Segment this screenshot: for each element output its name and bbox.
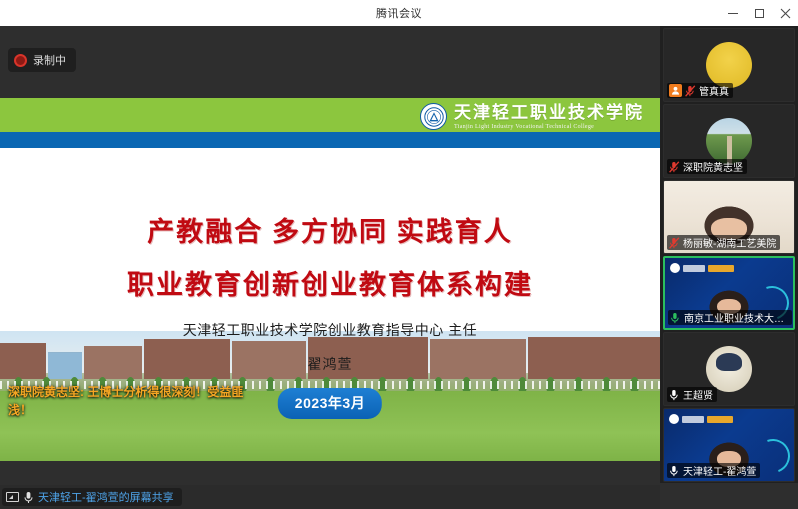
avatar bbox=[706, 118, 752, 164]
participant-name: 杨丽敏-湖南工艺美院 bbox=[683, 235, 776, 250]
bottom-status-bar: 天津轻工-翟鸿萱的屏幕共享 bbox=[0, 485, 660, 509]
participant-name: 天津轻工-翟鸿萱 bbox=[683, 463, 756, 478]
slide-white-curve bbox=[0, 148, 660, 218]
close-button[interactable] bbox=[772, 0, 798, 26]
maximize-button[interactable] bbox=[746, 0, 772, 26]
title-bar: 腾讯会议 bbox=[0, 0, 798, 26]
slide-organization: 天津轻工职业技术学院创业教育指导中心 主任 bbox=[0, 320, 660, 340]
window-title: 腾讯会议 bbox=[376, 5, 422, 21]
avatar bbox=[706, 42, 752, 88]
slide-title-line-2: 职业教育创新创业教育体系构建 bbox=[0, 263, 660, 302]
school-name-en: Tianjin Light Industry Vocational Techni… bbox=[454, 124, 644, 130]
tencent-meeting-window: 腾讯会议 录制中 bbox=[0, 0, 798, 509]
nameplate: 深职院黄志坚 bbox=[667, 159, 747, 174]
host-badge-icon bbox=[669, 84, 682, 97]
participant-tile[interactable]: 天津轻工-翟鸿萱 bbox=[663, 408, 795, 482]
avatar bbox=[706, 346, 752, 392]
mic-muted-icon bbox=[669, 237, 680, 249]
school-name-cn: 天津轻工职业技术学院 bbox=[454, 104, 644, 121]
window-controls bbox=[720, 0, 798, 26]
maximize-icon bbox=[755, 9, 764, 18]
participant-tile[interactable]: 管真真 bbox=[663, 28, 795, 102]
mic-muted-icon bbox=[685, 85, 696, 97]
participant-name: 王超贤 bbox=[683, 387, 713, 402]
mic-on-icon bbox=[669, 389, 680, 401]
screen-share-status[interactable]: 天津轻工-翟鸿萱的屏幕共享 bbox=[2, 488, 182, 506]
participant-rail[interactable]: 管真真 深职院黄志坚 bbox=[660, 26, 798, 483]
close-icon bbox=[780, 8, 791, 19]
screen-share-icon bbox=[6, 492, 19, 502]
mic-active-icon bbox=[670, 312, 681, 324]
school-emblem-icon bbox=[420, 103, 447, 130]
nameplate: 天津轻工-翟鸿萱 bbox=[667, 463, 760, 478]
slide-subtitle: 天津轻工职业技术学院创业教育指导中心 主任 翟鸿萱 bbox=[0, 320, 660, 374]
mic-on-icon bbox=[669, 465, 680, 477]
record-dot-icon bbox=[14, 54, 27, 67]
broadcast-overlay-logo bbox=[669, 414, 733, 424]
slide-presenter-name: 翟鸿萱 bbox=[0, 354, 660, 374]
shared-screen-stage[interactable]: 天津轻工职业技术学院 Tianjin Light Industry Vocati… bbox=[0, 80, 660, 478]
school-logo-text: 天津轻工职业技术学院 Tianjin Light Industry Vocati… bbox=[454, 104, 644, 130]
slide-date-badge: 2023年3月 bbox=[278, 388, 382, 419]
chat-caption-overlay: 深职院黄志坚: 王博士分析得很深刻！受益匪浅！ bbox=[8, 383, 258, 419]
nameplate: 王超贤 bbox=[667, 387, 717, 402]
participant-name: 深职院黄志坚 bbox=[683, 159, 743, 174]
participant-tile[interactable]: 南京工业职业技术大学张... bbox=[663, 256, 795, 330]
participant-name: 南京工业职业技术大学张... bbox=[684, 310, 788, 325]
chat-caption-text: 深职院黄志坚: 王博士分析得很深刻！受益匪浅！ bbox=[8, 385, 243, 417]
participant-tile[interactable]: 王超贤 bbox=[663, 332, 795, 406]
participant-name: 管真真 bbox=[699, 83, 729, 98]
nameplate: 南京工业职业技术大学张... bbox=[668, 310, 792, 325]
screen-share-label: 天津轻工-翟鸿萱的屏幕共享 bbox=[38, 489, 174, 505]
recording-indicator[interactable]: 录制中 bbox=[8, 48, 76, 72]
broadcast-overlay-logo bbox=[670, 263, 734, 273]
school-logo: 天津轻工职业技术学院 Tianjin Light Industry Vocati… bbox=[420, 103, 644, 130]
microphone-icon bbox=[24, 491, 33, 504]
mic-muted-icon bbox=[669, 161, 680, 173]
slide-title: 产教融合 多方协同 实践育人 职业教育创新创业教育体系构建 bbox=[0, 210, 660, 316]
recording-label: 录制中 bbox=[33, 52, 66, 68]
participant-tile[interactable]: 深职院黄志坚 bbox=[663, 104, 795, 178]
nameplate: 杨丽敏-湖南工艺美院 bbox=[667, 235, 780, 250]
minimize-icon bbox=[728, 13, 738, 14]
participant-tile[interactable]: 杨丽敏-湖南工艺美院 bbox=[663, 180, 795, 254]
nameplate: 管真真 bbox=[667, 83, 733, 98]
slide-title-line-1: 产教融合 多方协同 实践育人 bbox=[0, 210, 660, 249]
minimize-button[interactable] bbox=[720, 0, 746, 26]
